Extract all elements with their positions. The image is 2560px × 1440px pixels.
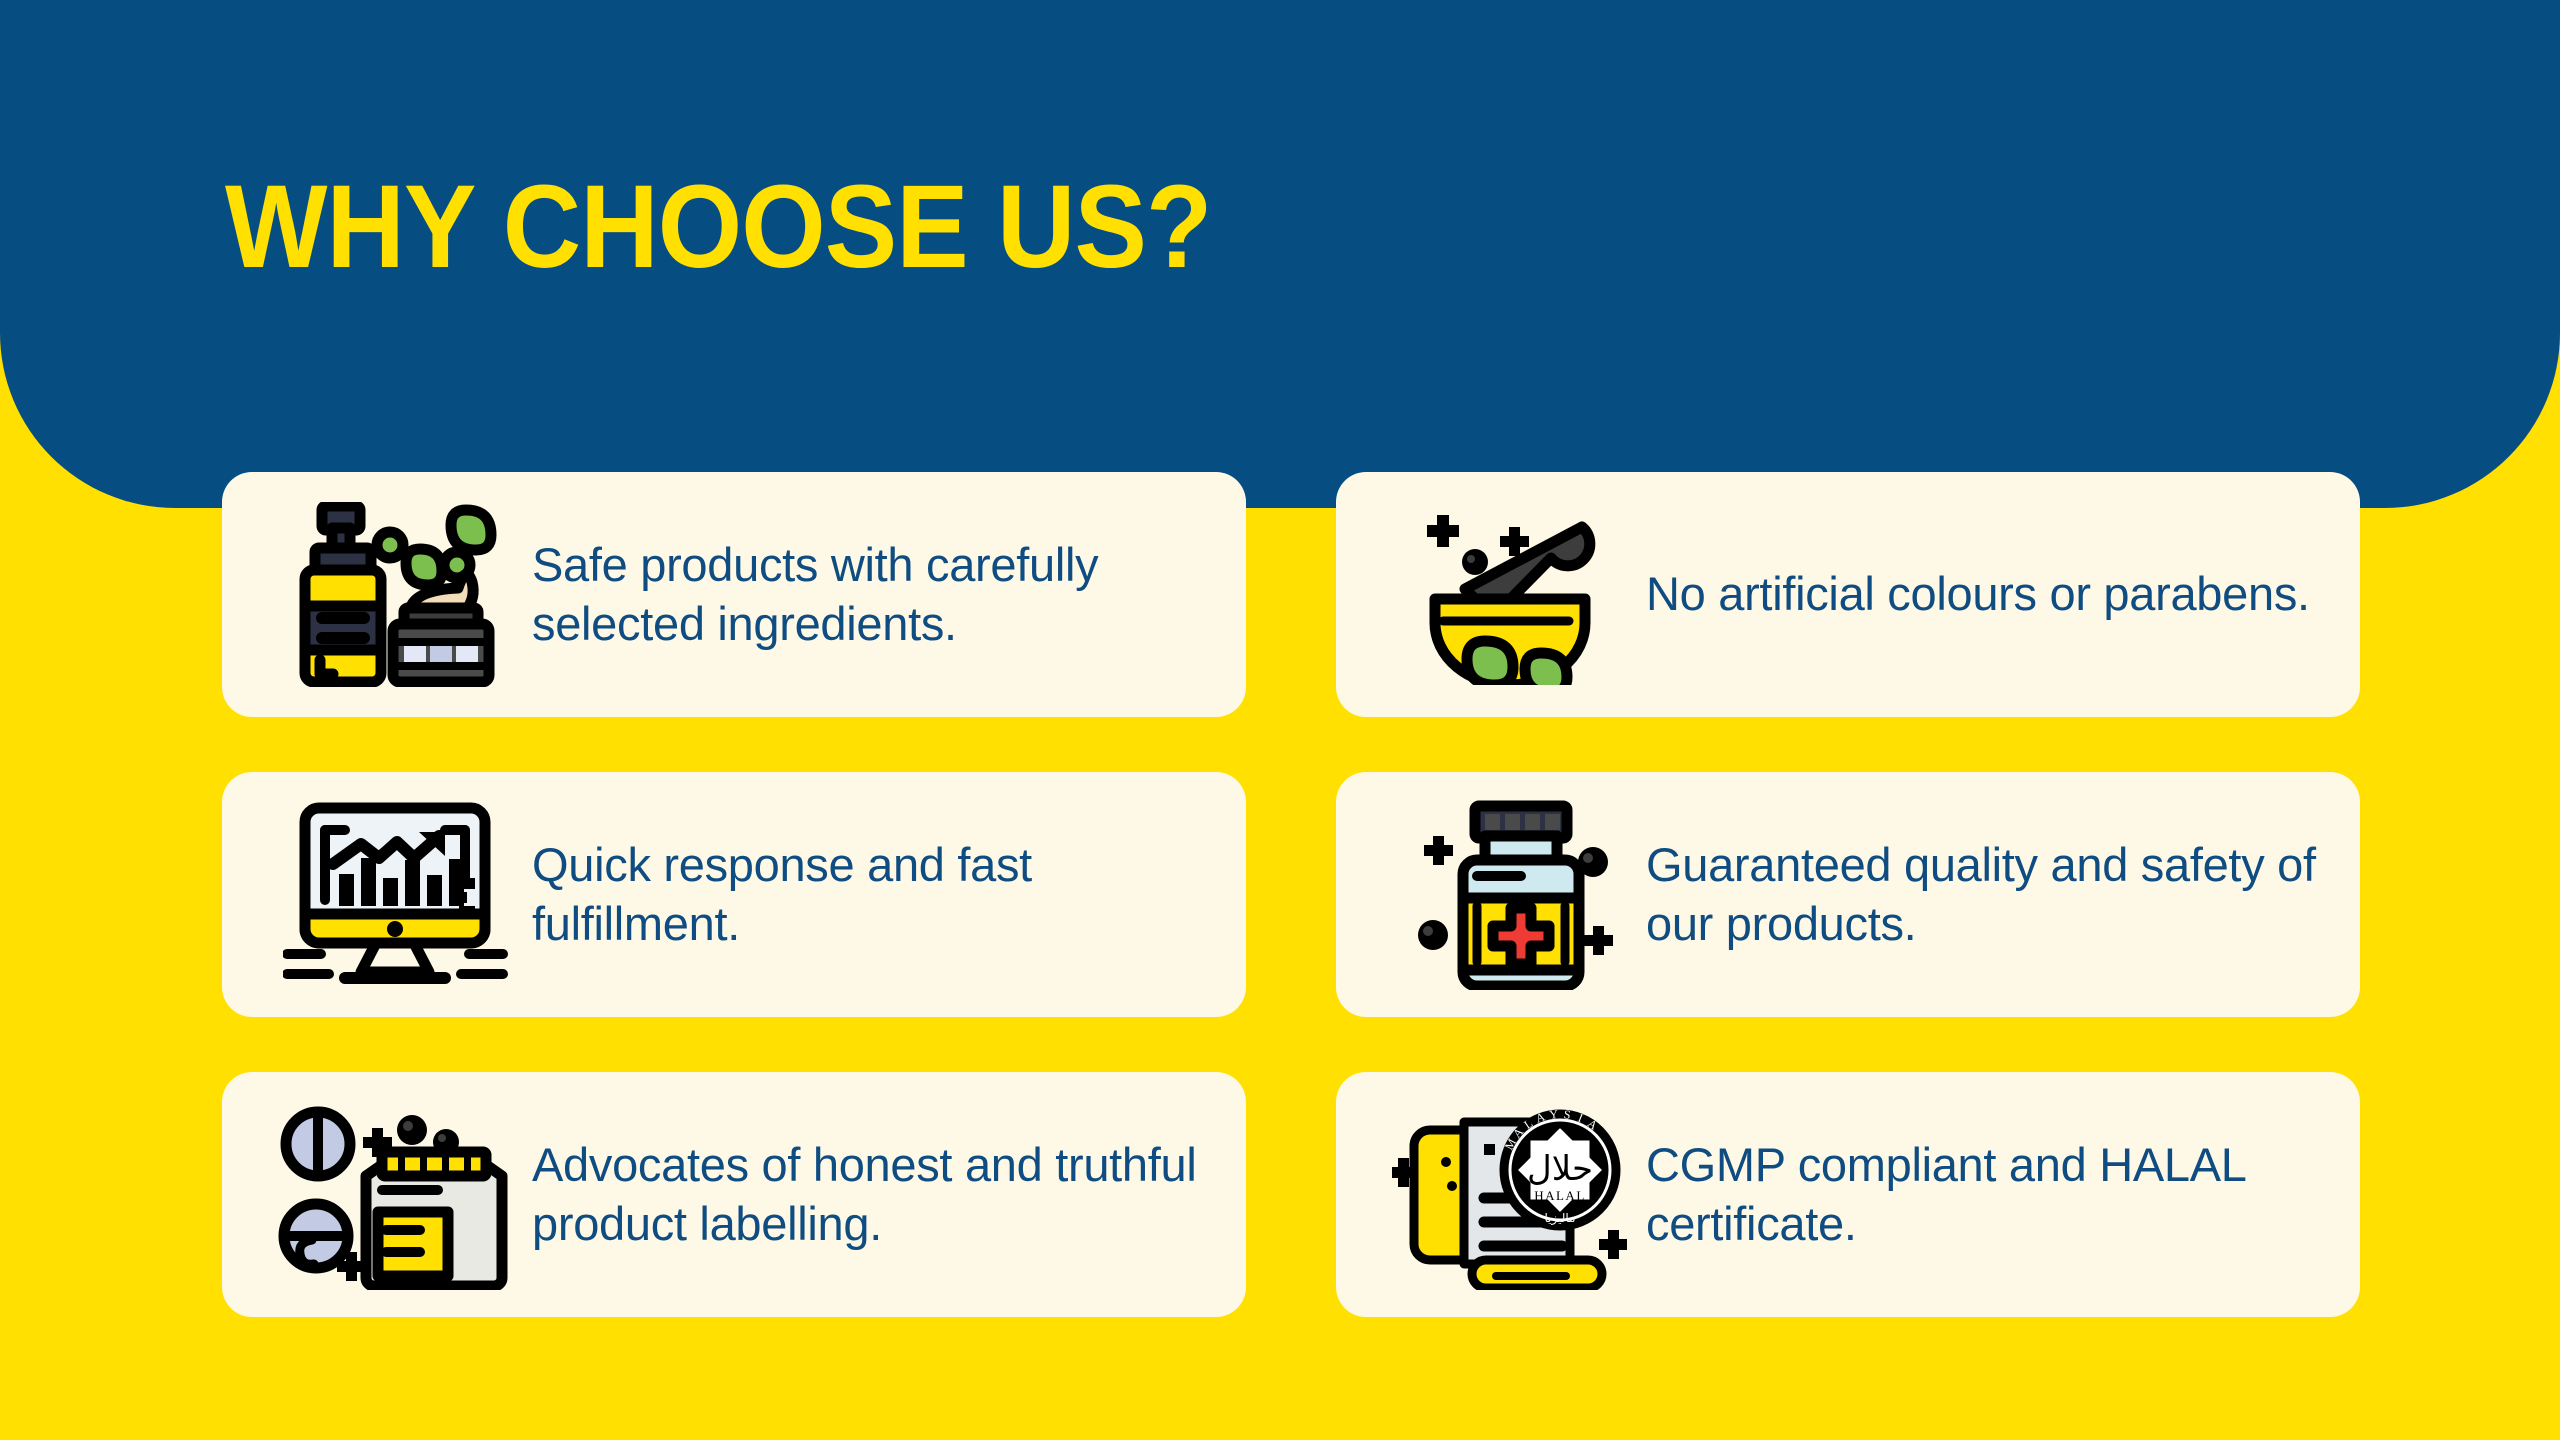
benefit-card-text: Advocates of honest and truthful product… (520, 1136, 1212, 1253)
benefit-card-honest-labelling[interactable]: Advocates of honest and truthful product… (222, 1072, 1246, 1317)
halal-seal-latin: HALAL (1534, 1188, 1586, 1203)
monitor-chart-icon (270, 795, 520, 995)
pills-and-supplement-bottle-icon (270, 1095, 520, 1295)
halal-seal-arabic: حلال (1526, 1149, 1592, 1189)
benefit-card-text: Guaranteed quality and safety of our pro… (1634, 836, 2326, 953)
page-title: WHY CHOOSE US? (225, 168, 1211, 286)
benefit-card-text: Quick response and fast fulfillment. (520, 836, 1212, 953)
header-banner: WHY CHOOSE US? (0, 0, 2560, 508)
medicine-bottle-icon (1384, 795, 1634, 995)
mortar-and-pestle-icon (1384, 495, 1634, 695)
benefit-card-text: No artificial colours or parabens. (1634, 565, 2326, 623)
benefit-card-guaranteed-quality[interactable]: Guaranteed quality and safety of our pro… (1336, 772, 2360, 1017)
halal-seal-jawi: ماليزيا (1544, 1211, 1575, 1226)
benefit-card-no-artificial-colours[interactable]: No artificial colours or parabens. (1336, 472, 2360, 717)
infographic-page: WHY CHOOSE US? (0, 0, 2560, 1440)
benefit-card-text: Safe products with carefully selected in… (520, 536, 1212, 653)
benefit-card-safe-products[interactable]: Safe products with carefully selected in… (222, 472, 1246, 717)
benefit-card-quick-response[interactable]: Quick response and fast fulfillment. (222, 772, 1246, 1017)
benefits-card-grid: Safe products with carefully selected in… (222, 472, 2360, 1317)
halal-certificate-icon: حلال HALAL ماليزيا M A L A Y S I A (1384, 1095, 1634, 1295)
benefit-card-text: CGMP compliant and HALAL certificate. (1634, 1136, 2326, 1253)
svg-text:Y: Y (1548, 1106, 1559, 1121)
bottle-and-jar-icon (270, 495, 520, 695)
benefit-card-cgmp-halal[interactable]: حلال HALAL ماليزيا M A L A Y S I A (1336, 1072, 2360, 1317)
